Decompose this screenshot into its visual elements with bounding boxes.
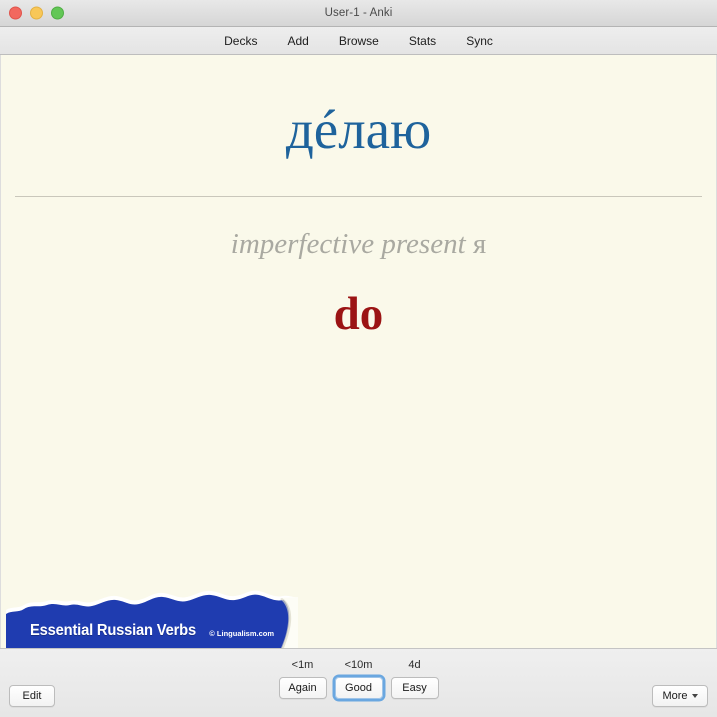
close-button[interactable] bbox=[9, 7, 22, 20]
edit-button[interactable]: Edit bbox=[9, 685, 55, 707]
more-button-label: More bbox=[662, 690, 687, 702]
again-button[interactable]: Again bbox=[279, 677, 327, 699]
deck-banner-image: Essential Russian Verbs © Lingualism.com bbox=[6, 588, 298, 648]
good-button[interactable]: Good bbox=[335, 677, 383, 699]
toolbar-item-stats[interactable]: Stats bbox=[406, 32, 439, 50]
ease-interval-again: <1m bbox=[292, 657, 314, 673]
card-answer-text: do bbox=[1, 261, 716, 341]
window-title: User-1 - Anki bbox=[0, 7, 717, 19]
toolbar-item-sync[interactable]: Sync bbox=[463, 32, 496, 50]
ease-button-group: <1m Again <10m Good 4d Easy bbox=[277, 657, 441, 699]
title-bar: User-1 - Anki bbox=[0, 0, 717, 27]
review-bottom-bar: Edit <1m Again <10m Good 4d Easy More bbox=[0, 648, 717, 717]
banner-credit-text: © Lingualism.com bbox=[209, 629, 274, 638]
easy-button[interactable]: Easy bbox=[391, 677, 439, 699]
minimize-button[interactable] bbox=[30, 7, 43, 20]
toolbar-item-add[interactable]: Add bbox=[284, 32, 311, 50]
ease-column-again: <1m Again bbox=[277, 657, 329, 699]
window-controls bbox=[9, 7, 64, 20]
card-review-area[interactable]: дéлаю imperfective present я do Essen bbox=[0, 55, 717, 648]
card-question-text: дéлаю bbox=[1, 55, 716, 159]
banner-title-text: Essential Russian Verbs bbox=[30, 622, 196, 640]
main-toolbar: Decks Add Browse Stats Sync bbox=[0, 27, 717, 55]
ease-column-easy: 4d Easy bbox=[389, 657, 441, 699]
ease-column-good: <10m Good bbox=[333, 657, 385, 699]
card-hint-cyrillic: я bbox=[473, 228, 486, 260]
card-hint-latin: imperfective present bbox=[231, 228, 473, 260]
chevron-down-icon bbox=[692, 694, 698, 698]
toolbar-item-browse[interactable]: Browse bbox=[336, 32, 382, 50]
anki-main-window: User-1 - Anki Decks Add Browse Stats Syn… bbox=[0, 0, 717, 717]
toolbar-item-decks[interactable]: Decks bbox=[221, 32, 260, 50]
more-button[interactable]: More bbox=[652, 685, 708, 707]
zoom-button[interactable] bbox=[51, 7, 64, 20]
ease-interval-good: <10m bbox=[345, 657, 373, 673]
card-hint-text: imperfective present я bbox=[1, 197, 716, 261]
ease-interval-easy: 4d bbox=[408, 657, 420, 673]
